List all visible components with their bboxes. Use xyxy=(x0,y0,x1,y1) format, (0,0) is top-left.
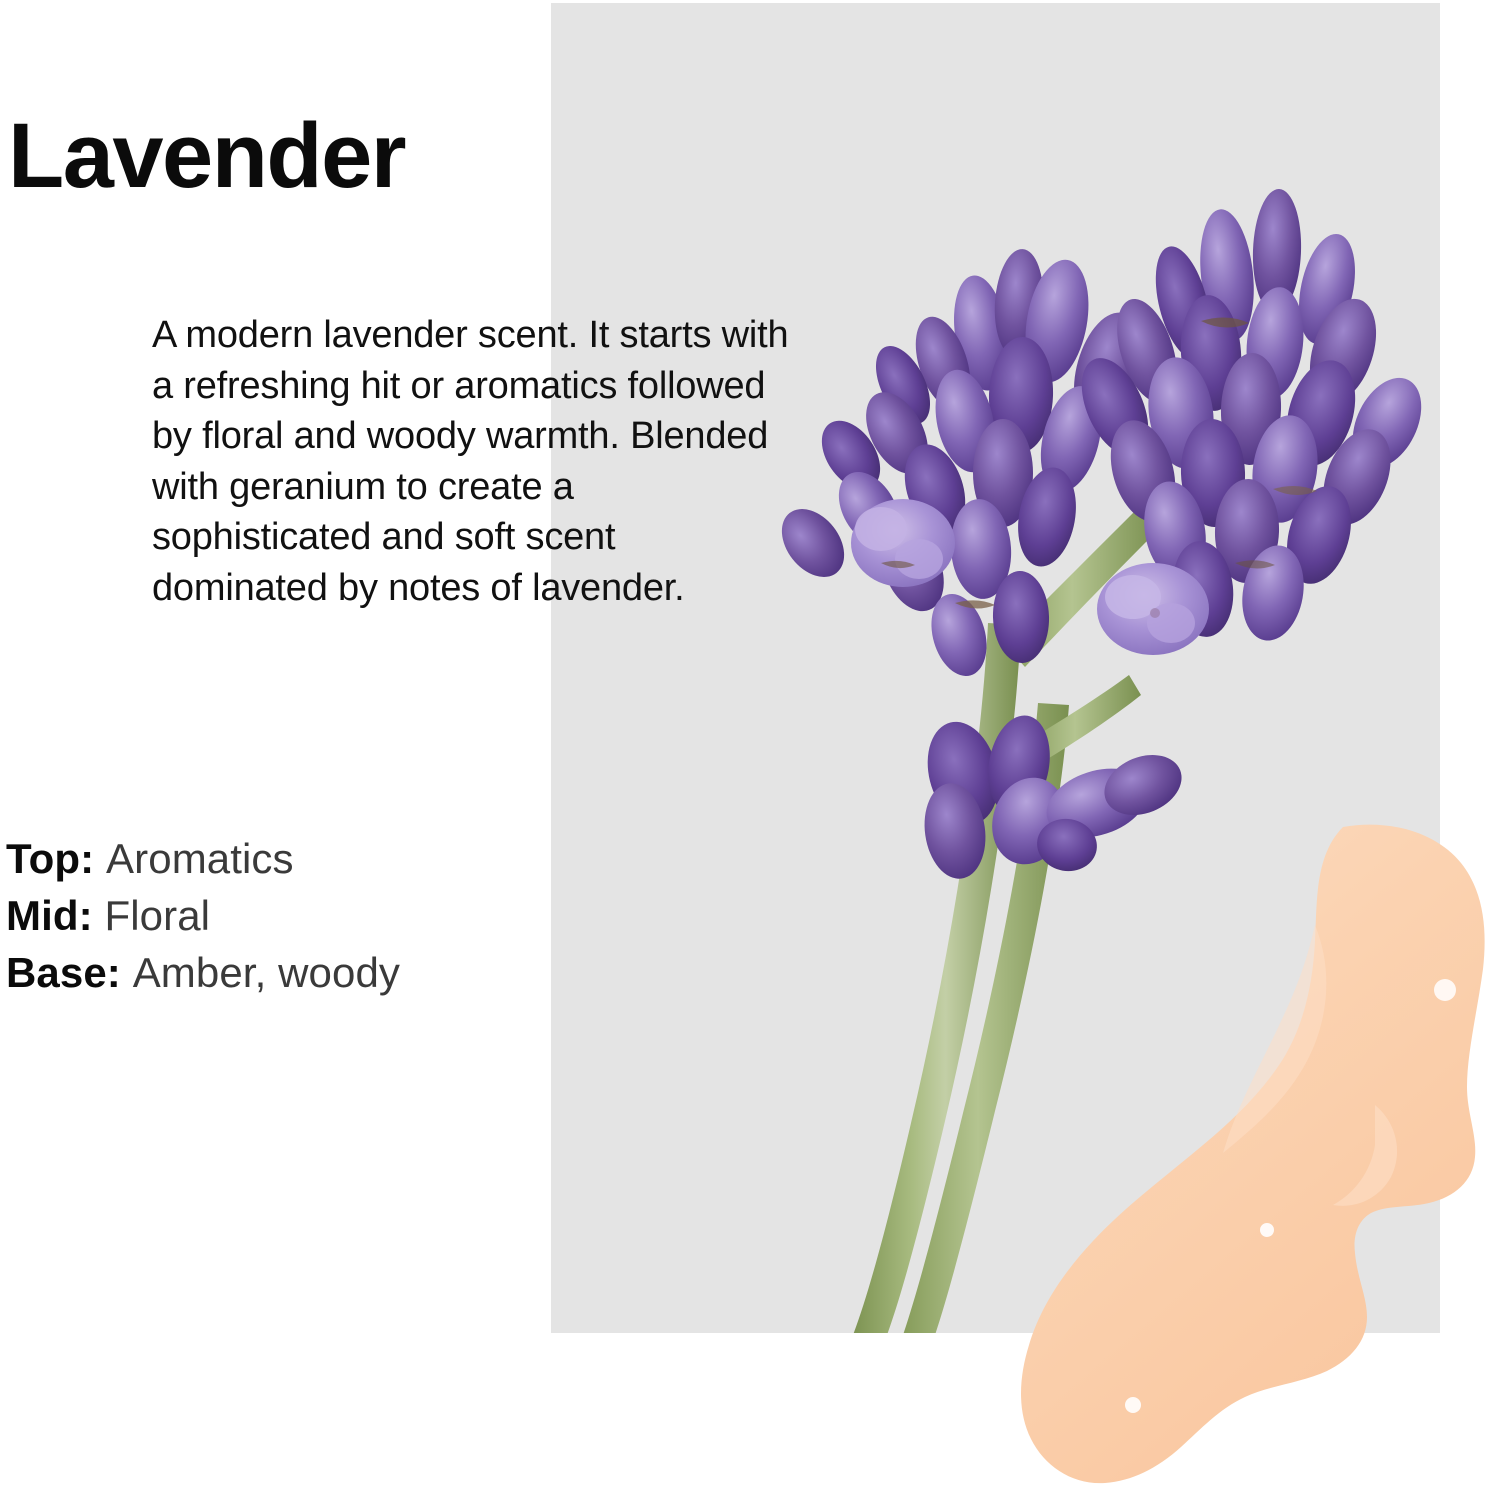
poster-canvas: Lavender A modern lavender scent. It sta… xyxy=(0,0,1500,1489)
note-value-mid: Floral xyxy=(104,892,210,939)
note-row-top: Top: Aromatics xyxy=(6,830,400,887)
note-value-top: Aromatics xyxy=(106,835,294,882)
note-label-top: Top: xyxy=(6,835,94,882)
note-value-base: Amber, woody xyxy=(133,949,400,996)
note-row-mid: Mid: Floral xyxy=(6,887,400,944)
note-label-base: Base: xyxy=(6,949,121,996)
page-title: Lavender xyxy=(8,110,405,202)
scent-description: A modern lavender scent. It starts with … xyxy=(152,310,792,613)
lavender-sprig-photo xyxy=(551,3,1440,1333)
note-row-base: Base: Amber, woody xyxy=(6,944,400,1001)
note-label-mid: Mid: xyxy=(6,892,93,939)
scent-notes-list: Top: Aromatics Mid: Floral Base: Amber, … xyxy=(6,830,400,1001)
